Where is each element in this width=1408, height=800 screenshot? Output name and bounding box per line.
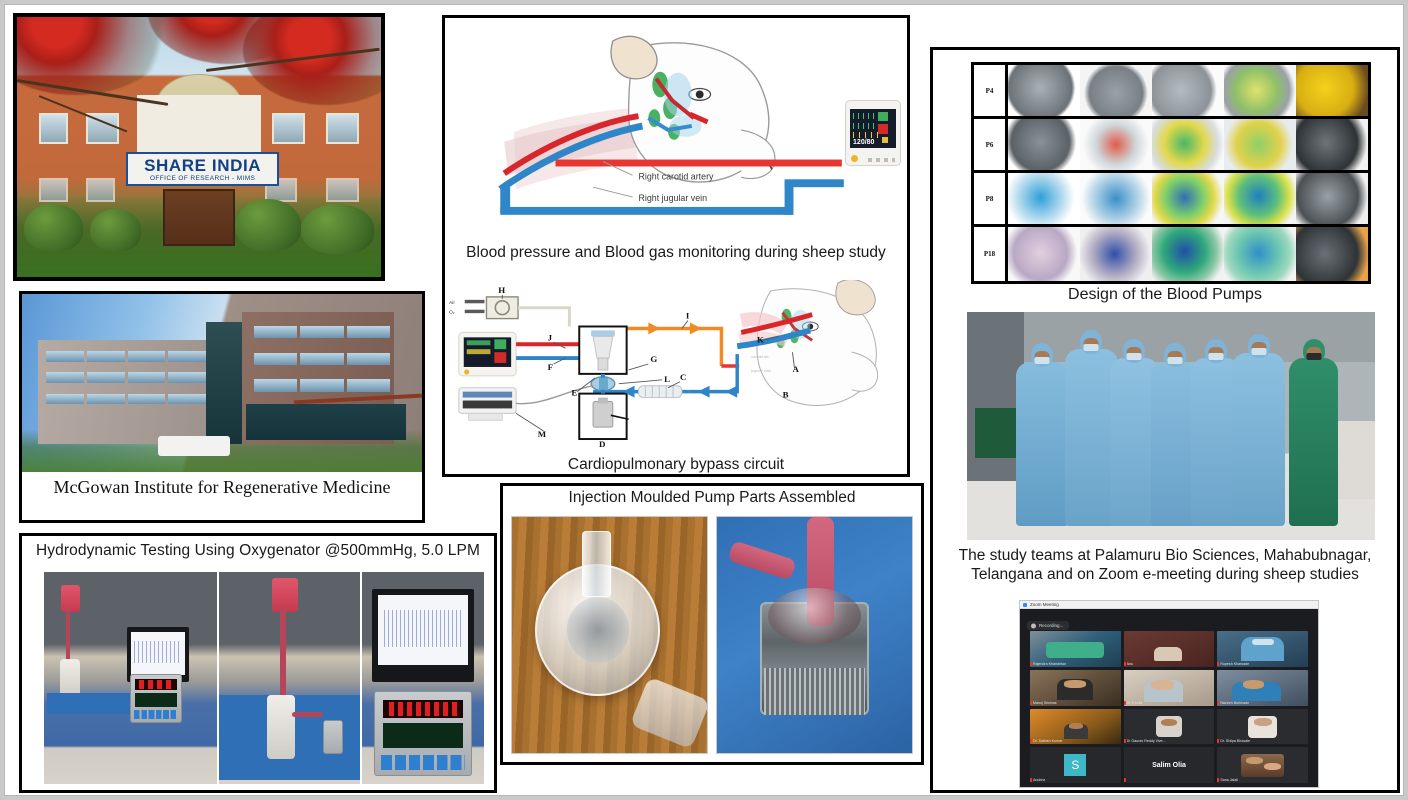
window-row bbox=[46, 394, 206, 405]
cpb-label-J: J bbox=[548, 332, 553, 342]
building-entrance-door bbox=[163, 189, 236, 246]
shrub bbox=[24, 204, 82, 251]
cpb-circuit-svg: Air O₂ bbox=[445, 280, 907, 448]
pump-cell bbox=[1224, 65, 1296, 116]
test-bench-photo-left bbox=[44, 572, 217, 784]
pump-cell bbox=[1080, 65, 1152, 116]
sign-line-2: OFFICE OF RESEARCH - MIMS bbox=[150, 175, 255, 182]
zoom-participant-name: Manoj Srinivas bbox=[1033, 701, 1057, 705]
tubing bbox=[280, 606, 286, 699]
patient-monitor: 120/80 bbox=[845, 100, 901, 166]
pump-row-label: P6 bbox=[974, 119, 1008, 170]
poster-page: SHARE INDIA OFFICE OF RESEARCH - MIMS bbox=[4, 4, 1404, 796]
panel-share-india: SHARE INDIA OFFICE OF RESEARCH - MIMS bbox=[13, 13, 385, 281]
pump-cell bbox=[1224, 173, 1296, 224]
panel-mcgowan-institute: McGowan Institute for Regenerative Medic… bbox=[19, 291, 425, 523]
panel-pumps-and-teams: P4 P6 P8 bbox=[930, 47, 1400, 793]
gas-label-o2: O₂ bbox=[449, 310, 455, 316]
zoom-window-title: Zoom Meeting bbox=[1030, 602, 1059, 607]
zoom-participant-name: Rupesh Kharsade bbox=[1220, 662, 1249, 666]
pump-cell bbox=[1152, 119, 1224, 170]
monitor-buttons bbox=[868, 158, 895, 162]
zoom-tile[interactable]: Dr. Sathish Kumar bbox=[1030, 709, 1121, 745]
mcgowan-building-photo bbox=[22, 294, 422, 472]
cpb-label-F: F bbox=[548, 362, 553, 372]
svg-text:jugular vein: jugular vein bbox=[750, 368, 771, 373]
tubing bbox=[292, 712, 323, 717]
pump-cell bbox=[1008, 173, 1080, 224]
cpb-label-D: D bbox=[599, 439, 605, 448]
window-row bbox=[46, 351, 206, 362]
oxygenator bbox=[267, 695, 295, 759]
sheep-head-diagram: Right carotid artery Right jugular vein … bbox=[445, 22, 907, 228]
zoom-tile[interactable]: Manoj Srinivas bbox=[1030, 670, 1121, 706]
zoom-tile-active-speaker[interactable]: Dr S Lella bbox=[1124, 670, 1215, 706]
zoom-window-titlebar: Zoom Meeting bbox=[1020, 601, 1318, 609]
pump-cell bbox=[1008, 227, 1080, 281]
injection-moulded-caption: Injection Moulded Pump Parts Assembled bbox=[503, 486, 921, 511]
monitor-power-led bbox=[851, 155, 858, 162]
zoom-meeting-screenshot: Zoom Meeting Recording... Rajendra Khand… bbox=[1019, 600, 1319, 788]
zoom-tile[interactable]: Naveen Borkhade bbox=[1217, 670, 1308, 706]
label-right-carotid-artery: Right carotid artery bbox=[638, 171, 714, 181]
window-row bbox=[254, 379, 390, 391]
blood-pump-design-grid: P4 P6 P8 bbox=[971, 62, 1371, 284]
pump-cell bbox=[1152, 65, 1224, 116]
zoom-tile[interactable]: Anu bbox=[1124, 631, 1215, 667]
label-right-jugular-vein: Right jugular vein bbox=[638, 193, 707, 203]
sign-line-1: SHARE INDIA bbox=[144, 157, 261, 174]
window bbox=[326, 113, 359, 144]
cpb-label-A: A bbox=[792, 364, 799, 374]
zoom-participant-name: Sana Jalali bbox=[1220, 778, 1238, 782]
zoom-participant-name: Dr Gaurav Reddy Vive... bbox=[1127, 739, 1166, 743]
panel-injection-moulded-parts: Injection Moulded Pump Parts Assembled bbox=[500, 483, 924, 765]
oxygenator bbox=[60, 659, 81, 697]
pump-cell bbox=[1296, 227, 1368, 281]
window-row bbox=[254, 326, 390, 338]
shrub bbox=[301, 204, 374, 253]
pump-cell bbox=[1296, 173, 1368, 224]
pump-cell bbox=[1224, 119, 1296, 170]
zoom-participant-grid: Rajendra Khandekar Anu Rupesh Kharsade bbox=[1030, 631, 1308, 783]
pump-cell bbox=[1008, 119, 1080, 170]
pump-row-p18: P18 bbox=[974, 227, 1368, 281]
cpb-label-K: K bbox=[757, 334, 764, 344]
share-india-sign: SHARE INDIA OFFICE OF RESEARCH - MIMS bbox=[126, 152, 279, 186]
study-team-operating-room-photo bbox=[967, 312, 1375, 540]
pump-inlet-port bbox=[582, 531, 611, 597]
window-row bbox=[254, 353, 390, 365]
zoom-tile[interactable]: Sana Jalali bbox=[1217, 747, 1308, 783]
zoom-participant-name: Anu bbox=[1127, 662, 1133, 666]
study-teams-caption: The study teams at Palamuru Bio Sciences… bbox=[933, 546, 1397, 585]
window bbox=[86, 178, 115, 201]
share-india-photo: SHARE INDIA OFFICE OF RESEARCH - MIMS bbox=[17, 17, 381, 277]
zoom-tile[interactable]: Rupesh Kharsade bbox=[1217, 631, 1308, 667]
team-member-green-gown bbox=[1289, 358, 1338, 527]
building-glass-core bbox=[206, 322, 246, 443]
zoom-participant-name: Dr. Sathish Kumar bbox=[1033, 739, 1062, 743]
console-display bbox=[374, 691, 471, 776]
cpb-label-C: C bbox=[680, 372, 686, 382]
hydrodynamic-caption: Hydrodynamic Testing Using Oxygenator @5… bbox=[22, 536, 494, 564]
zoom-participant-display-name: Salim Olia bbox=[1124, 747, 1215, 783]
zoom-recording-badge: Recording... bbox=[1027, 621, 1069, 630]
gas-label-air: Air bbox=[449, 300, 455, 306]
pump-cell bbox=[1080, 119, 1152, 170]
blood-tubing-inlet bbox=[727, 540, 797, 581]
shuttle-bus bbox=[158, 436, 230, 456]
pump-row-label: P18 bbox=[974, 227, 1008, 281]
tubing bbox=[66, 608, 70, 663]
motor-cooling-fins bbox=[764, 668, 865, 715]
pump-row-p4: P4 bbox=[974, 65, 1368, 119]
sheep-head-svg: Right carotid artery Right jugular vein bbox=[445, 22, 907, 228]
cpb-label-L: L bbox=[664, 374, 670, 384]
pump-cell bbox=[1224, 227, 1296, 281]
zoom-video-stage: Recording... Rajendra Khandekar Anu bbox=[1020, 609, 1318, 787]
pump-outlet-port bbox=[630, 676, 711, 749]
window-row bbox=[46, 372, 206, 383]
pump-row-label: P4 bbox=[974, 65, 1008, 116]
pump-row-p8: P8 bbox=[974, 173, 1368, 227]
window bbox=[39, 113, 68, 144]
assembled-pump-photo bbox=[716, 516, 913, 754]
zoom-tile[interactable]: Rajendra Khandekar bbox=[1030, 631, 1121, 667]
window bbox=[326, 178, 359, 201]
laptop bbox=[372, 589, 474, 682]
study-teams-caption-line1: The study teams at Palamuru Bio Sciences… bbox=[933, 546, 1397, 565]
transparent-pump-head bbox=[768, 588, 862, 645]
zoom-participant-name: Rajendra Khandekar bbox=[1033, 662, 1066, 666]
team-member bbox=[1016, 362, 1069, 526]
pump-cell bbox=[1296, 65, 1368, 116]
pump-motor bbox=[323, 720, 343, 754]
cpb-circuit-diagram: Air O₂ bbox=[445, 280, 907, 448]
cpb-label-E: E bbox=[571, 388, 577, 398]
pump-cell bbox=[1152, 227, 1224, 281]
panel-sheep-study: Right carotid artery Right jugular vein … bbox=[442, 15, 910, 477]
injection-moulded-photo-pair bbox=[511, 516, 913, 754]
zoom-participant-name: Anubha bbox=[1033, 778, 1045, 782]
zoom-tile-name-only[interactable]: Salim Olia bbox=[1124, 747, 1215, 783]
test-bench-photo-center bbox=[219, 572, 361, 784]
blood-pumps-caption: Design of the Blood Pumps bbox=[933, 286, 1397, 304]
zoom-participant-name: Dr. Shilpa Bhosale bbox=[1220, 739, 1250, 743]
impeller bbox=[567, 597, 629, 663]
monitor-bp-reading: 120/80 bbox=[853, 139, 874, 146]
pump-cell bbox=[1080, 227, 1152, 281]
window bbox=[39, 178, 68, 201]
zoom-tile[interactable]: Dr. Shilpa Bhosale bbox=[1217, 709, 1308, 745]
test-bench-photo-right bbox=[362, 572, 484, 784]
panel-hydrodynamic-testing: Hydrodynamic Testing Using Oxygenator @5… bbox=[19, 533, 497, 793]
cpb-circuit-caption: Cardiopulmonary bypass circuit bbox=[445, 456, 907, 474]
ground-floor-glazing bbox=[246, 404, 406, 440]
blood-reservoir-bag bbox=[61, 585, 80, 613]
monitor-screen: 120/80 bbox=[850, 109, 895, 148]
flow-controller bbox=[130, 674, 182, 723]
study-teams-caption-line2: Telangana and on Zoom e-meeting during s… bbox=[933, 565, 1397, 584]
cpb-label-B: B bbox=[783, 390, 789, 400]
zoom-participant-name: Dr S Lella bbox=[1127, 701, 1143, 705]
zoom-avatar-initial: S bbox=[1064, 754, 1086, 776]
zoom-tile[interactable]: Dr Gaurav Reddy Vive... bbox=[1124, 709, 1215, 745]
shrub bbox=[90, 209, 141, 251]
pump-row-p6: P6 bbox=[974, 119, 1368, 173]
zoom-participant-name: Naveen Borkhade bbox=[1220, 701, 1249, 705]
pump-cell bbox=[1152, 173, 1224, 224]
sheep-study-caption: Blood pressure and Blood gas monitoring … bbox=[445, 244, 907, 262]
team-member bbox=[1232, 353, 1285, 526]
cpb-label-G: G bbox=[650, 354, 657, 364]
cpb-label-H: H bbox=[498, 285, 505, 295]
pump-cell bbox=[1080, 173, 1152, 224]
pump-cell bbox=[1296, 119, 1368, 170]
zoom-tile-avatar[interactable]: S Anubha bbox=[1030, 747, 1121, 783]
svg-text:carotid art.: carotid art. bbox=[751, 354, 770, 359]
zoom-app-icon bbox=[1023, 603, 1027, 607]
pump-row-label: P8 bbox=[974, 173, 1008, 224]
clear-pump-housing-photo bbox=[511, 516, 708, 754]
mcgowan-caption: McGowan Institute for Regenerative Medic… bbox=[22, 472, 422, 498]
shrub bbox=[235, 199, 301, 251]
window bbox=[272, 113, 305, 144]
pump-cell bbox=[1008, 65, 1080, 116]
cpb-label-I: I bbox=[686, 311, 690, 321]
hydrodynamic-photo-strip bbox=[44, 572, 484, 784]
